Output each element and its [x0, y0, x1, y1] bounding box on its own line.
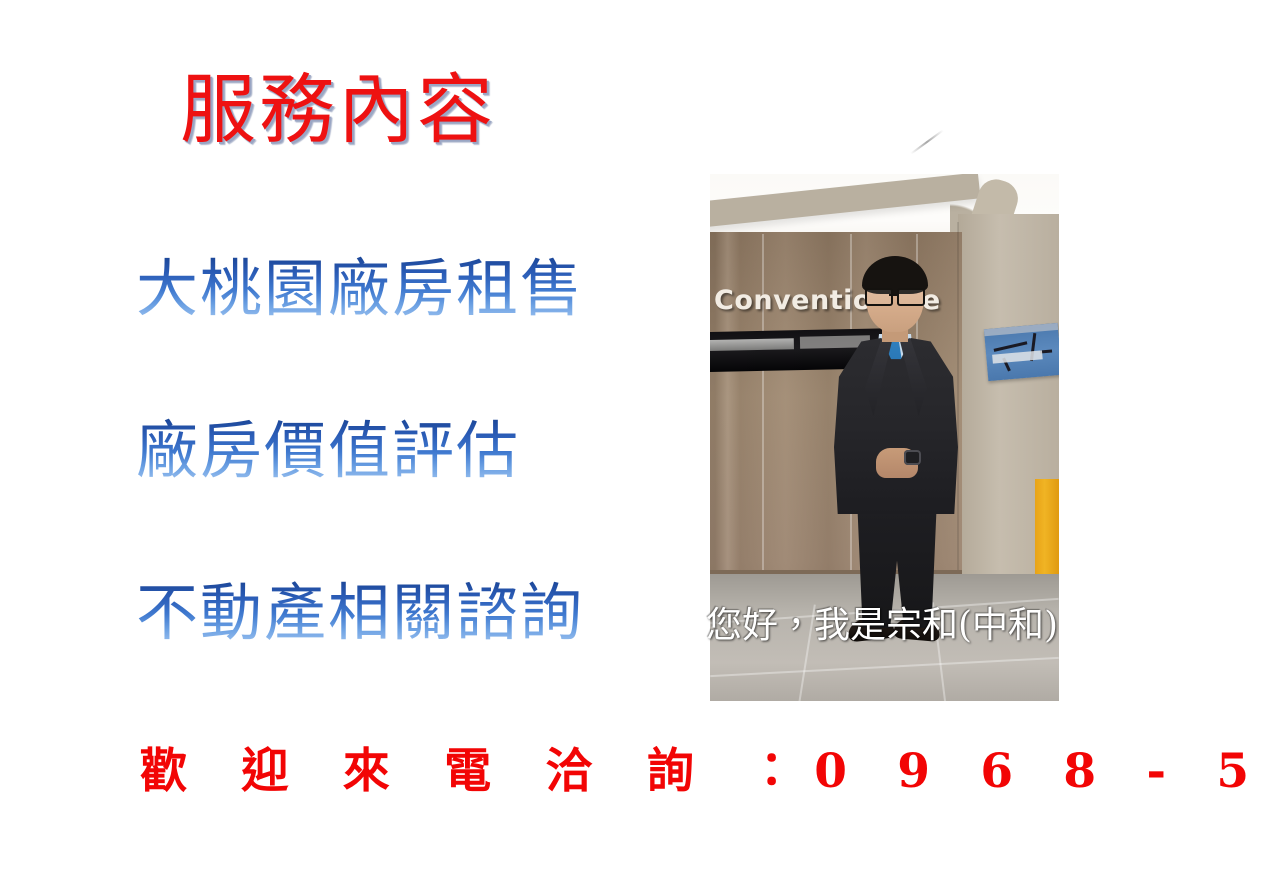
service-item-2-label: 廠房價值評估	[136, 414, 520, 487]
poster-label-strip	[992, 350, 1043, 363]
service-item-3: 不動產相關諮詢 不動產相關諮詢	[136, 582, 584, 644]
contact-line: 歡 迎 來 電 洽 詢 ：0 9 6 8 - 5 1 9 - 8 8 8	[140, 748, 1263, 795]
contact-phone-number: 0 9 6 8 - 5 1 9 - 8 8 8	[814, 744, 1263, 799]
glasses-lens-left	[865, 288, 893, 306]
glasses-lens-right	[897, 288, 925, 306]
photo-blue-poster	[984, 323, 1059, 381]
person-suit-jacket	[834, 338, 958, 514]
service-item-2: 廠房價值評估 廠房價值評估	[136, 420, 520, 482]
slide-canvas: 服務內容 大桃園廠房租售 大桃園廠房租售 廠房價值評估 廠房價值評估 不動產相關…	[0, 0, 1263, 891]
person-wristwatch	[904, 450, 921, 465]
poster-mark	[994, 341, 1028, 352]
glasses-bridge	[889, 294, 899, 296]
contact-prefix: 歡 迎 來 電 洽 詢 ：	[140, 744, 814, 799]
service-item-1: 大桃園廠房租售 大桃園廠房租售	[136, 258, 584, 320]
person-glasses	[865, 288, 925, 302]
service-item-1-label: 大桃園廠房租售	[136, 252, 584, 325]
service-item-3-label: 不動產相關諮詢	[136, 576, 584, 649]
floor-tile-line	[710, 657, 1059, 677]
photo-caption: 您好，我是宗和(中和)	[706, 608, 1058, 644]
diagonal-streak-artifact	[910, 129, 944, 154]
page-title: 服務內容	[180, 72, 496, 148]
photo-person	[828, 262, 964, 634]
